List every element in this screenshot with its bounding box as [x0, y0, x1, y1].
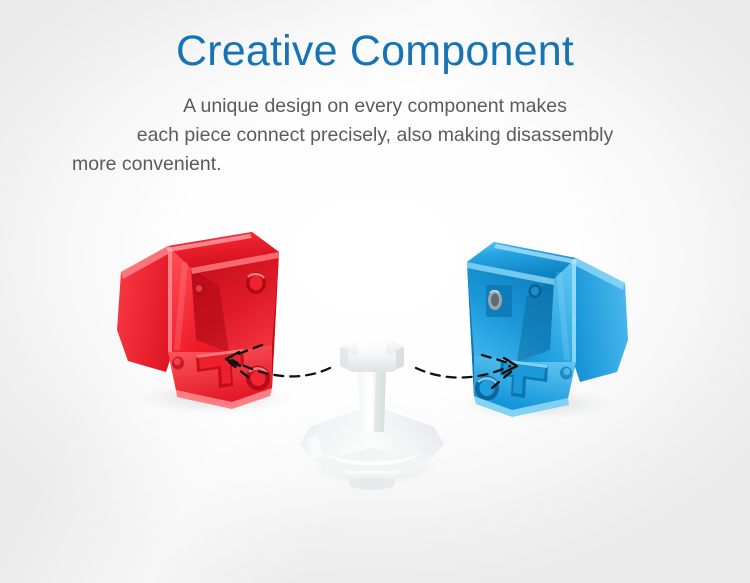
blue-bracket [467, 242, 628, 417]
product-illustration [0, 0, 750, 583]
red-edge-highlight-left [168, 246, 172, 352]
connector-head-left-shade [340, 347, 348, 369]
blue-edge-highlight-right [572, 258, 576, 362]
description-line-3: more convenient. [72, 150, 678, 179]
connector-stem-shadow [374, 366, 386, 432]
connector-head-ridge [358, 340, 386, 354]
blue-round-hole-upper-inner [531, 287, 539, 296]
description-line-2: each piece connect precisely, also makin… [72, 121, 678, 150]
description-text: A unique design on every component makes… [72, 92, 678, 179]
page-title: Creative Component [0, 27, 750, 75]
connector-head-right-shade [396, 347, 404, 369]
connector-foot-bottom [350, 478, 394, 490]
red-round-hole-upper-inner [250, 276, 263, 291]
red-bracket [117, 232, 279, 409]
promo-banner: Creative Component A unique design on ev… [0, 0, 750, 583]
description-line-1: A unique design on every component makes [72, 92, 678, 121]
red-interior-peg-highlight [196, 285, 202, 292]
